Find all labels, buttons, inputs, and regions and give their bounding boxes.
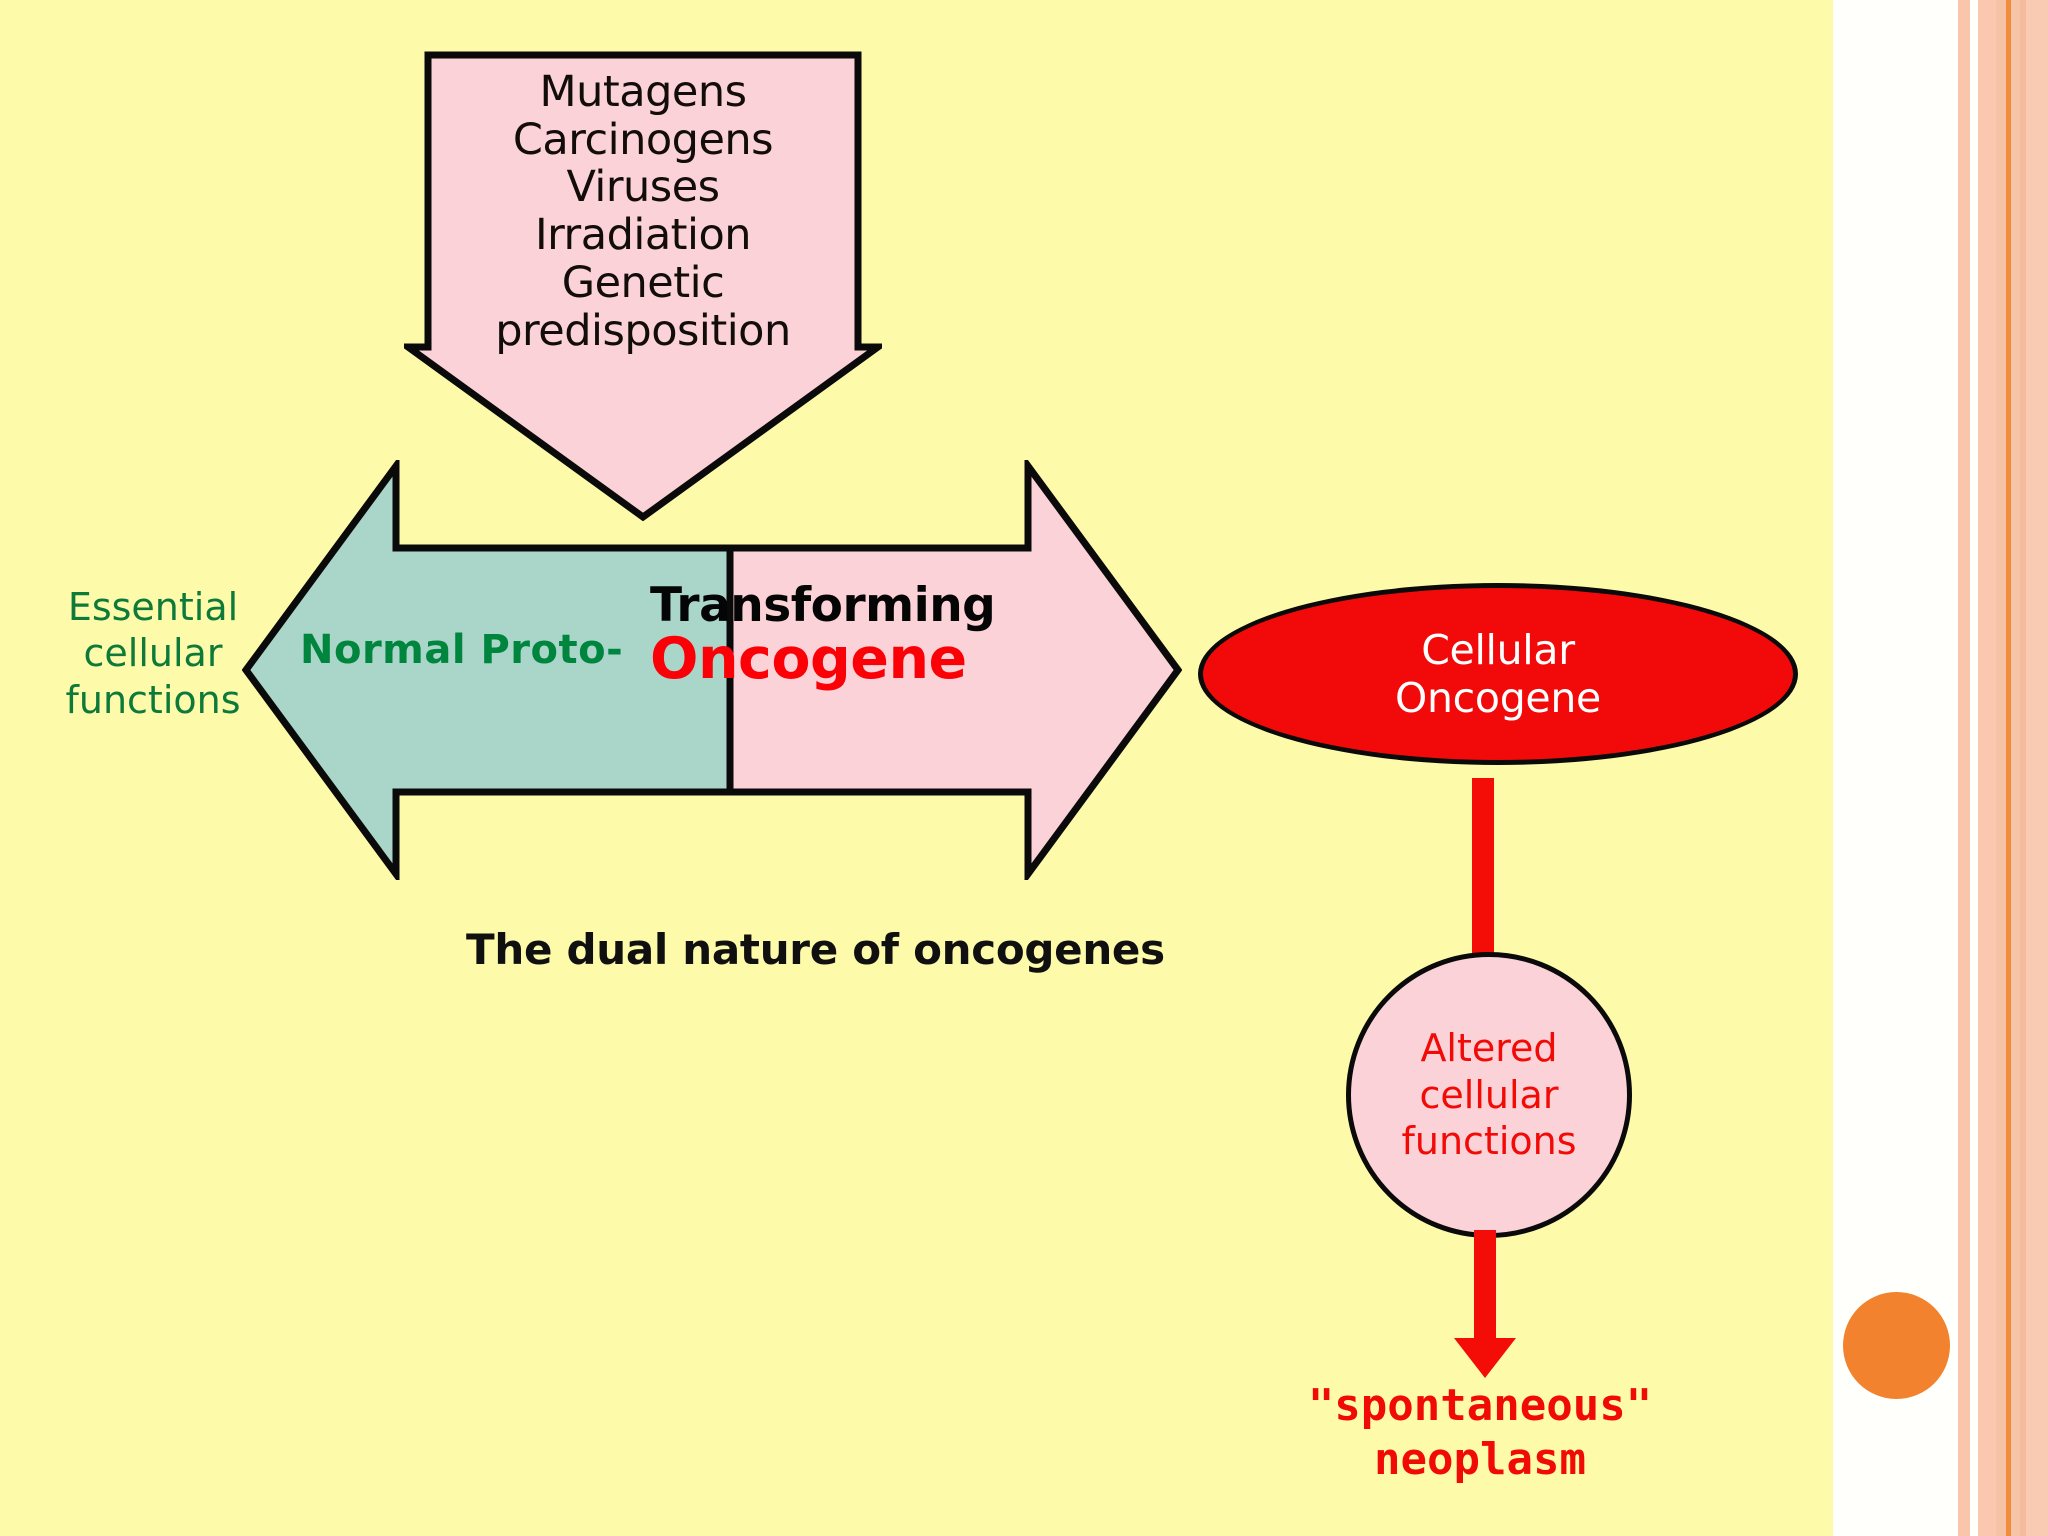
- functions-to-neoplasm-arrow: [1440, 1230, 1530, 1380]
- oncogene-label: Oncogene: [650, 626, 967, 692]
- decorative-stripe-5: [2011, 0, 2020, 1536]
- normal-protooncogene-label: Normal Proto-: [300, 627, 623, 673]
- transforming-label: Transforming: [650, 578, 995, 633]
- decorative-stripe-3: [1996, 0, 2006, 1536]
- essential-functions-label: Essential cellular functions: [38, 584, 268, 723]
- decorative-stripe-1: [1958, 0, 1970, 1536]
- causes-arrow-label: Mutagens Carcinogens Viruses Irradiation…: [404, 69, 882, 355]
- cellular-oncogene-node: Cellular Oncogene: [1198, 583, 1798, 765]
- decorative-stripe-2: [1978, 0, 1996, 1536]
- decorative-stripe-7: [2026, 0, 2048, 1536]
- causes-arrow-shape: Mutagens Carcinogens Viruses Irradiation…: [404, 51, 882, 521]
- oncogene-to-functions-connector: [1472, 778, 1494, 956]
- cellular-oncogene-label: Cellular Oncogene: [1395, 626, 1601, 723]
- altered-functions-node: Altered cellular functions: [1346, 952, 1632, 1238]
- orange-circle-decoration: [1843, 1292, 1950, 1399]
- spontaneous-neoplasm-label: "spontaneous" neoplasm: [1245, 1379, 1715, 1486]
- slide-canvas: Mutagens Carcinogens Viruses Irradiation…: [0, 0, 2048, 1536]
- diagram-caption: The dual nature of oncogenes: [466, 925, 1165, 974]
- altered-functions-label: Altered cellular functions: [1401, 1025, 1576, 1165]
